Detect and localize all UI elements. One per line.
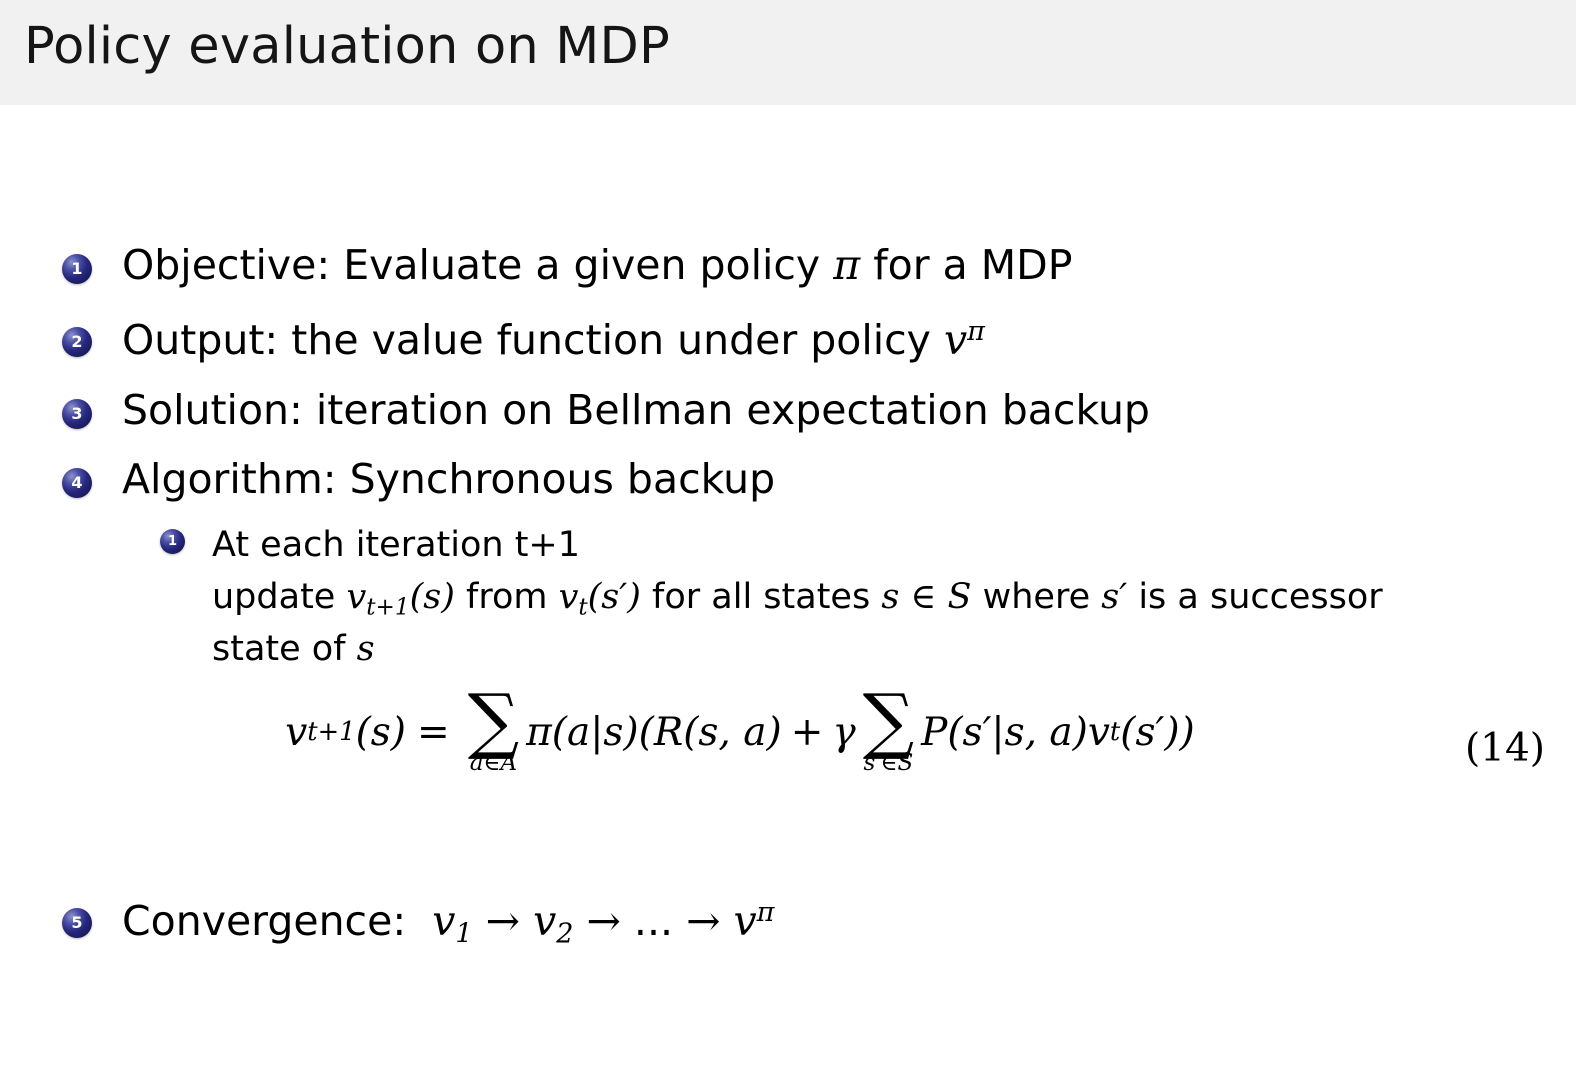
word-for-all-states: for all states	[652, 577, 870, 617]
numbered-bullet-icon: 5	[62, 908, 92, 938]
v-argument: (s)	[410, 577, 455, 617]
sub-line-2: update vt+1(s) from vt(s′) for all state…	[212, 572, 1383, 625]
list-item: 2 Output: the value function under polic…	[62, 318, 985, 361]
v-variable: v	[733, 897, 756, 945]
display-equation: vt+1(s)=∑a∈Aπ(a|s)(R(s, a)+γ∑s′∈SP(s′|s,…	[0, 690, 1480, 774]
bullet-number-label: 3	[62, 399, 92, 429]
bullet-number-label: 1	[62, 254, 92, 284]
bullet-number-label: 1	[160, 529, 185, 554]
arrow-icon: →	[686, 897, 720, 945]
arrow-icon: →	[587, 897, 621, 945]
v-variable: v	[346, 577, 366, 617]
equation-block: vt+1(s)=∑a∈Aπ(a|s)(R(s, a)+γ∑s′∈SP(s′|s,…	[0, 690, 1576, 820]
bullet-number-label: 2	[62, 327, 92, 357]
eq-lhs-arg: (s)	[356, 710, 406, 755]
transition-argument: (s′|s, a)	[947, 710, 1088, 755]
equation-number: (14)	[1465, 726, 1545, 771]
pi-superscript: π	[967, 316, 985, 347]
numbered-bullet-icon: 1	[160, 529, 185, 554]
v-variable: v	[944, 316, 967, 364]
word-from: from	[466, 577, 547, 617]
item-rest: Evaluate a given policy	[330, 241, 833, 289]
item-rest: Synchronous backup	[337, 455, 776, 503]
item-label: Convergence:	[122, 897, 406, 945]
sigma-icon: ∑	[468, 692, 519, 748]
v-argument: (s′)	[588, 577, 641, 617]
plus-sign: +	[528, 525, 557, 565]
eq-lhs-var: v	[285, 710, 307, 755]
item-tail: for a MDP	[860, 241, 1072, 289]
gamma-symbol: γ	[832, 710, 855, 755]
ellipsis: ...	[634, 897, 673, 945]
list-item-text: Output: the value function under policy …	[122, 318, 985, 361]
eq-lhs-subscript: t+1	[307, 717, 355, 747]
v-argument: (s′))	[1120, 710, 1195, 755]
list-item-text: Algorithm: Synchronous backup	[122, 459, 775, 500]
v-variable: v	[1088, 710, 1110, 755]
v-variable: v	[432, 897, 455, 945]
list-item: 5 Convergence: v1 → v2 → ... → vπ	[62, 899, 774, 948]
sub-line-1-pre: At each iteration t	[212, 525, 528, 565]
s-variable: s	[357, 629, 375, 669]
numbered-bullet-icon: 3	[62, 399, 92, 429]
pi-symbol: π	[833, 241, 860, 289]
bullet-number-label: 4	[62, 468, 92, 498]
page-title: Policy evaluation on MDP	[24, 17, 670, 76]
summation-over-actions: ∑a∈A	[468, 692, 519, 776]
element-of-symbol: ∈	[910, 577, 936, 617]
cal-S-symbol: S	[948, 577, 972, 617]
item-label: Algorithm:	[122, 455, 337, 503]
v-subscript: t+1	[366, 594, 409, 620]
bullet-number-label: 5	[62, 908, 92, 938]
item-rest: iteration on Bellman expectation backup	[303, 386, 1150, 434]
summation-over-next-states: ∑s′∈S	[863, 692, 914, 776]
equation-inline: vt+1(s)=∑a∈Aπ(a|s)(R(s, a)+γ∑s′∈SP(s′|s,…	[285, 690, 1195, 774]
s-variable: s	[881, 577, 899, 617]
list-item-text: Convergence: v1 → v2 → ... → vπ	[122, 899, 774, 948]
word-update: update	[212, 577, 335, 617]
v-subscript: t	[578, 594, 587, 620]
v-subscript: t	[1110, 717, 1120, 747]
pi-superscript: π	[757, 897, 775, 928]
slide-header-bar: Policy evaluation on MDP	[0, 0, 1576, 105]
numbered-bullet-icon: 2	[62, 327, 92, 357]
sum-limit-label: a∈A	[470, 750, 517, 776]
reward-argument: (s, a)	[683, 710, 782, 755]
sum-limit-label: s′∈S	[863, 750, 913, 776]
s-prime-variable: s′	[1101, 577, 1127, 617]
list-item-text: Solution: iteration on Bellman expectati…	[122, 390, 1150, 431]
sigma-icon: ∑	[863, 692, 914, 748]
pi-argument: (a|s)(	[552, 710, 654, 755]
word-is-a-successor: is a successor	[1138, 577, 1382, 617]
sub-list-item: 1 At each iteration t+1 update vt+1(s) f…	[160, 520, 1560, 676]
v-subscript: 1	[455, 919, 472, 950]
numbered-bullet-icon: 1	[62, 254, 92, 284]
item-label: Solution:	[122, 386, 303, 434]
item-label: Output:	[122, 316, 278, 364]
pi-symbol: π	[526, 710, 552, 755]
list-item-text: Objective: Evaluate a given policy π for…	[122, 245, 1072, 286]
v-variable: v	[559, 577, 579, 617]
transition-function-P: P	[921, 710, 947, 755]
list-item: 1 Objective: Evaluate a given policy π f…	[62, 245, 1072, 286]
equals-sign: =	[417, 710, 450, 755]
plus-sign: +	[791, 710, 824, 755]
item-label: Objective:	[122, 241, 330, 289]
list-item: 3 Solution: iteration on Bellman expecta…	[62, 390, 1150, 431]
numbered-bullet-icon: 4	[62, 468, 92, 498]
sub-line-1: At each iteration t+1	[212, 520, 1383, 572]
slide-content: 1 Objective: Evaluate a given policy π f…	[0, 105, 1576, 1080]
list-item: 4 Algorithm: Synchronous backup	[62, 459, 775, 500]
v-subscript: 2	[556, 919, 573, 950]
item-rest: the value function under policy	[278, 316, 944, 364]
sub-line-1-post: 1	[558, 525, 580, 565]
v-variable: v	[533, 897, 556, 945]
arrow-icon: →	[486, 897, 520, 945]
word-where: where	[983, 577, 1091, 617]
sub-line-3-pre: state of	[212, 629, 346, 669]
sub-list-item-text: At each iteration t+1 update vt+1(s) fro…	[212, 520, 1383, 676]
reward-function-R: R	[654, 710, 683, 755]
sub-line-3: state of s	[212, 624, 1383, 676]
